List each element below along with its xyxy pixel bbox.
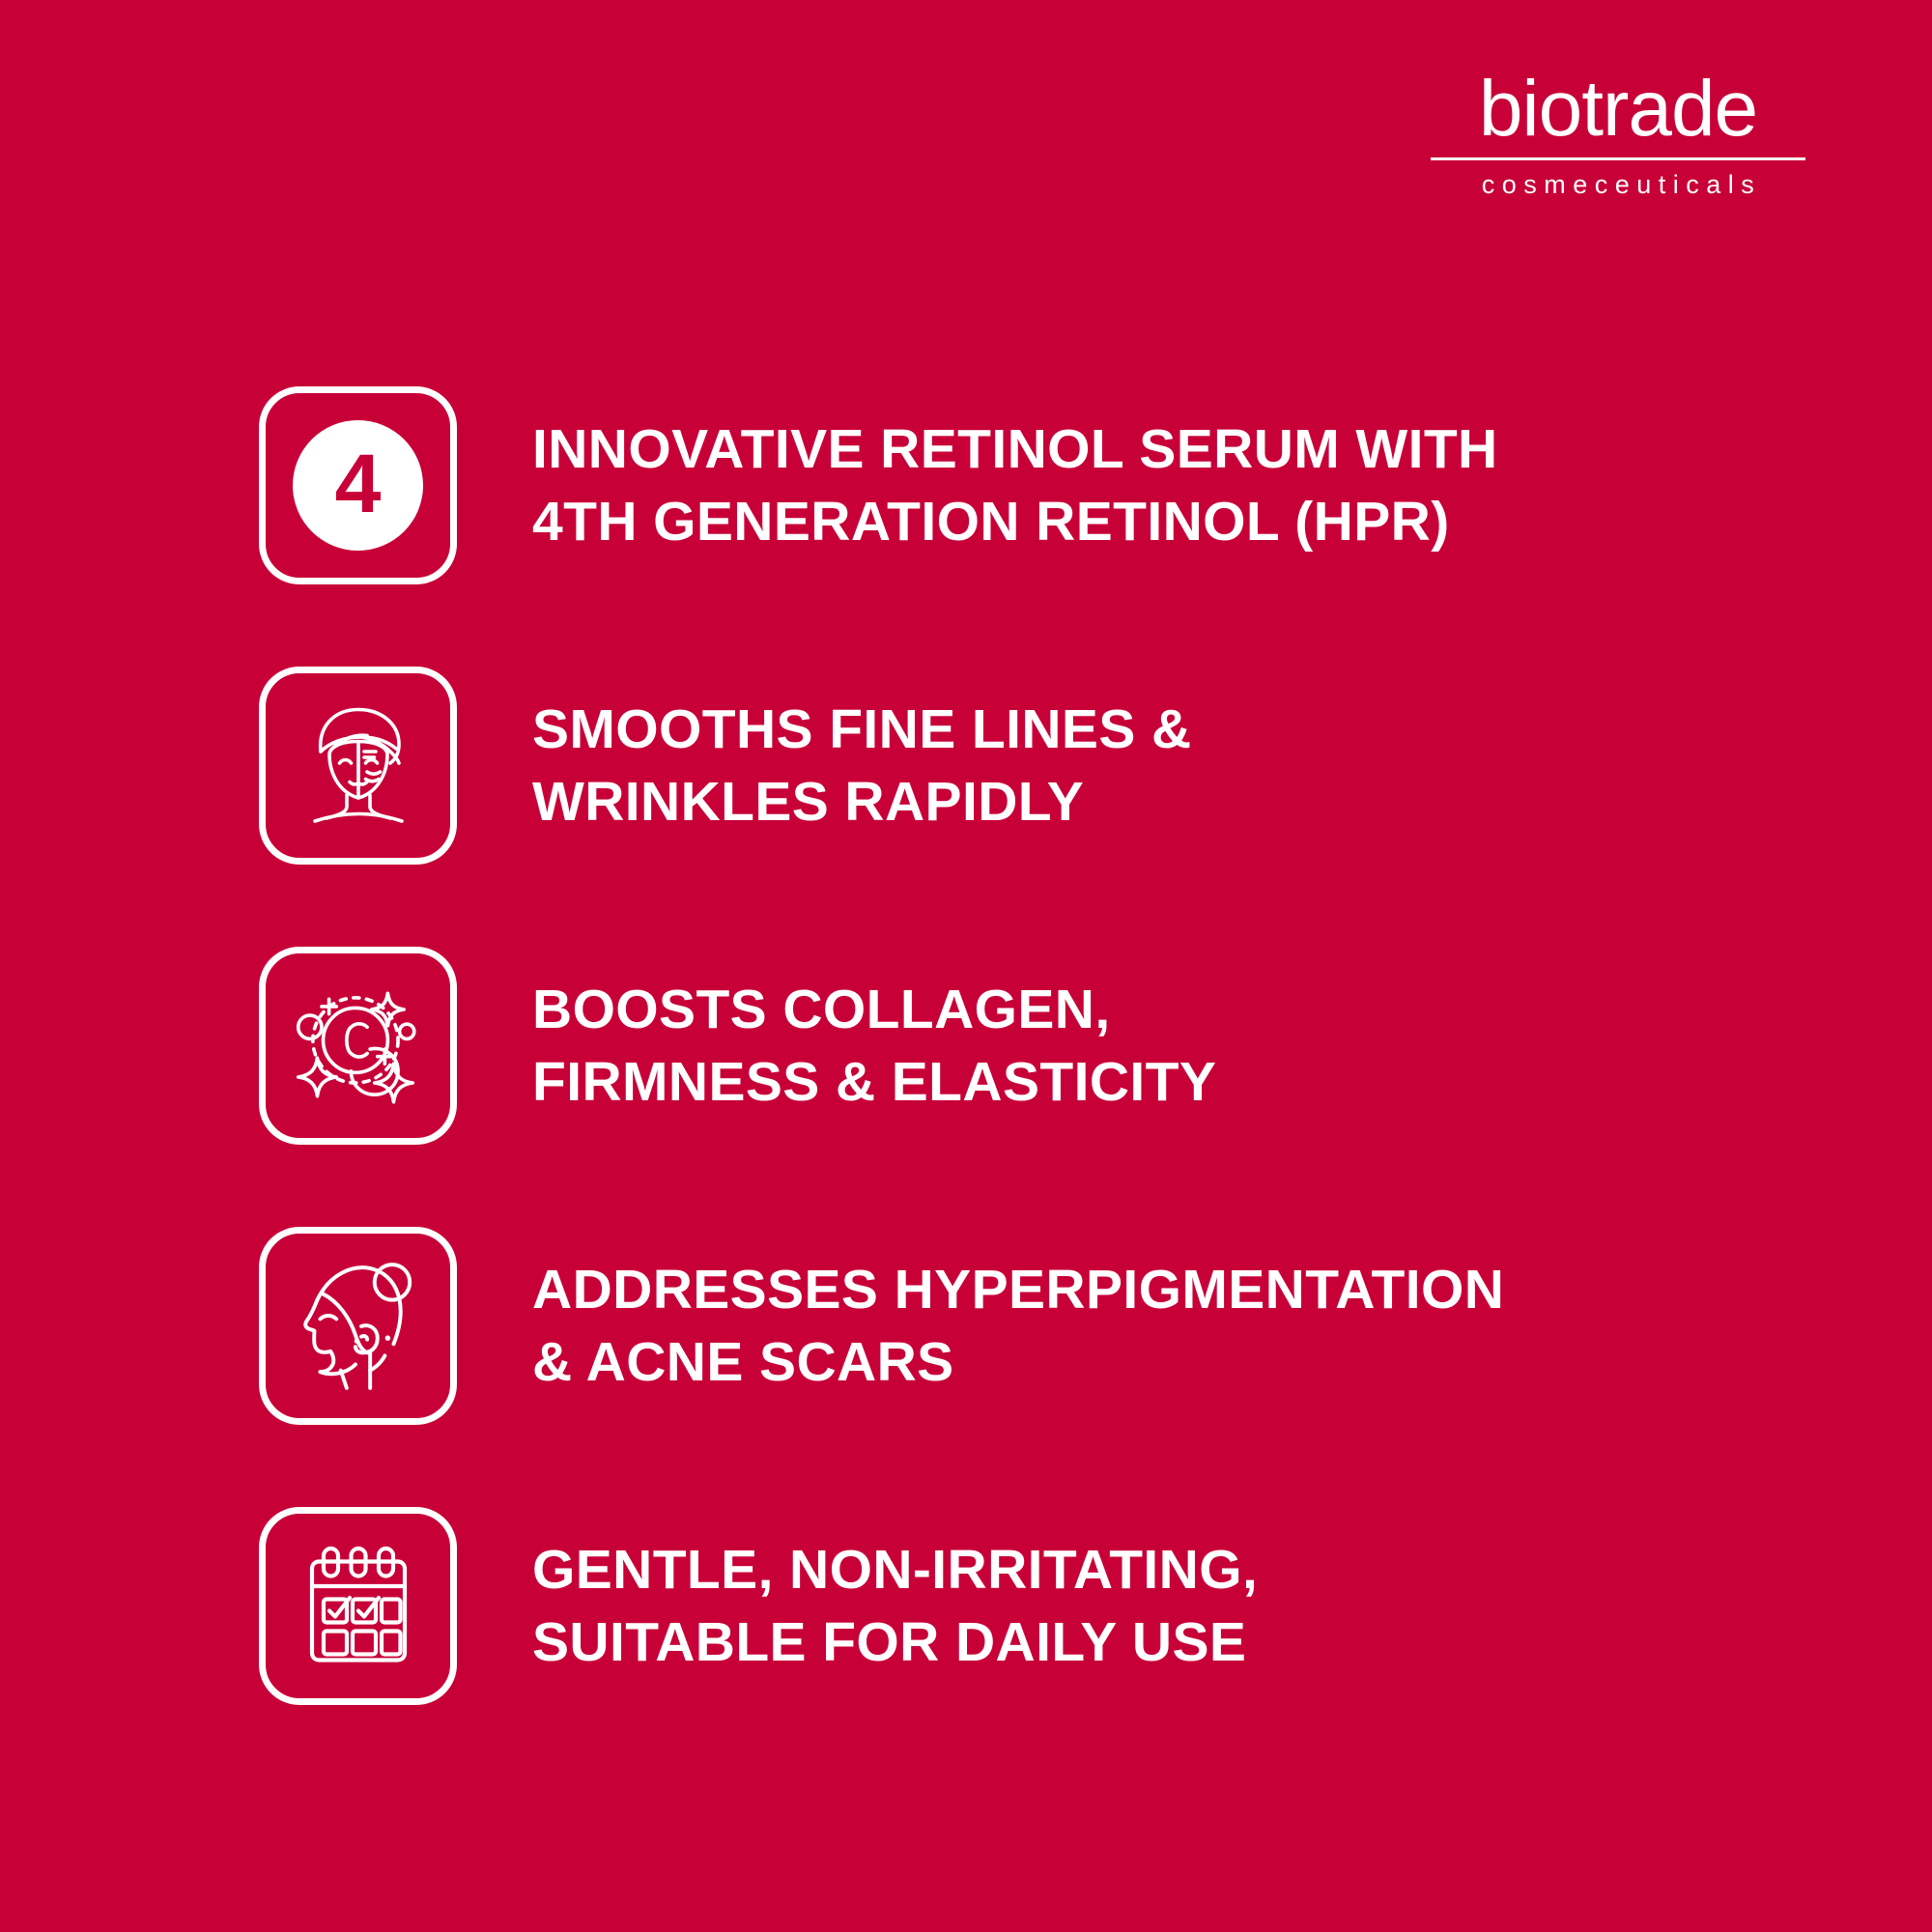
feature-label: ADDRESSES HYPERPIGMENTATION & ACNE SCARS [532, 1254, 1504, 1397]
feature-label: INNOVATIVE RETINOL SERUM WITH 4TH GENERA… [532, 413, 1498, 556]
feature-label: SMOOTHS FINE LINES & WRINKLES RAPIDLY [532, 694, 1192, 837]
collagen-sparkle-c-icon [259, 947, 457, 1145]
list-item: GENTLE, NON-IRRITATING, SUITABLE FOR DAI… [259, 1507, 1708, 1705]
list-item: 4 INNOVATIVE RETINOL SERUM WITH 4TH GENE… [259, 386, 1708, 584]
brand-tagline: cosmeceuticals [1425, 170, 1811, 200]
feature-label: GENTLE, NON-IRRITATING, SUITABLE FOR DAI… [532, 1534, 1258, 1677]
list-item: SMOOTHS FINE LINES & WRINKLES RAPIDLY [259, 667, 1708, 865]
badge-circle: 4 [293, 420, 423, 551]
list-item: ADDRESSES HYPERPIGMENTATION & ACNE SCARS [259, 1227, 1708, 1425]
face-with-towel-icon [259, 667, 457, 865]
badge-number: 4 [335, 442, 382, 526]
brand-name: biotrade [1425, 72, 1811, 145]
brand-logo: biotrade cosmeceuticals [1425, 72, 1811, 200]
calendar-checkmarks-icon [259, 1507, 457, 1705]
feature-label: BOOSTS COLLAGEN, FIRMNESS & ELASTICITY [532, 974, 1216, 1117]
feature-list: 4 INNOVATIVE RETINOL SERUM WITH 4TH GENE… [259, 386, 1708, 1705]
list-item: BOOSTS COLLAGEN, FIRMNESS & ELASTICITY [259, 947, 1708, 1145]
number-four-badge-icon: 4 [259, 386, 457, 584]
face-profile-pigmentation-icon [259, 1227, 457, 1425]
promo-infographic: { "brand": { "name": "biotrade", "taglin… [0, 0, 1932, 1932]
logo-divider [1431, 157, 1805, 160]
